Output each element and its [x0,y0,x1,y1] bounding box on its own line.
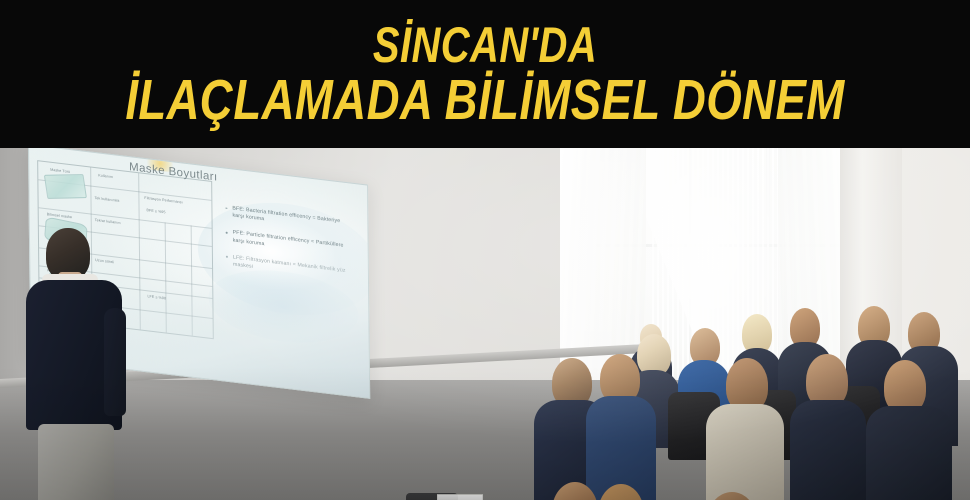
headline-banner: SİNCAN'DA İLAÇLAMADA BİLİMSEL DÖNEM [0,0,970,148]
headline-line-2: İLAÇLAMADA BİLİMSEL DÖNEM [97,71,873,129]
slide-bullet: LFE: Filtrasyon katmanı = Mekanik filtre… [226,253,354,283]
slide-bullet-list: BFE: Bacteria filtration efficency = Bak… [225,205,354,294]
attendee-body [706,404,784,500]
news-photo: Maske Boyutları Maske Türü Kullanım Fi [0,148,970,500]
slide-bullet: PFE: Particle filtration efficency = Par… [226,229,354,259]
slide-table-header-cell: Filtrasyon Performansı [144,196,182,205]
attendee-body [790,400,866,500]
attendee-body [866,406,952,500]
news-card: SİNCAN'DA İLAÇLAMADA BİLİMSEL DÖNEM [0,0,970,500]
slide-table-cell: LFE ≥ %98 [147,294,166,300]
presenter [0,148,140,500]
headline-text-stack: SİNCAN'DA İLAÇLAMADA BİLİMSEL DÖNEM [0,19,970,129]
slide-table-cell: BFE ≥ %95 [147,208,166,214]
desk-panel [437,494,483,500]
presenter-arm [104,308,126,416]
presenter-trousers [38,424,114,500]
headline-line-1: SİNCAN'DA [97,19,873,71]
